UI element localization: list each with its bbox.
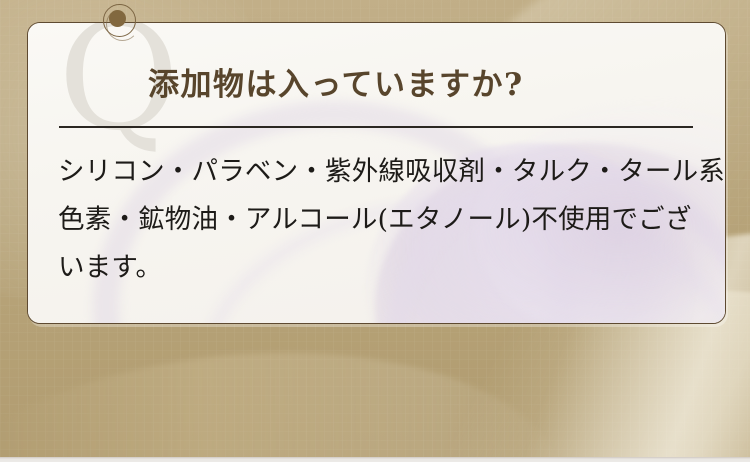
answer-line-2: 色素・鉱物油・アルコール(エタノール)不使用でござ	[58, 196, 706, 244]
faq-panel: Q 添加物は入っていますか? シリコン・パラベン・紫外線吸収剤・タルク・タール系…	[0, 0, 750, 462]
answer-line-1: シリコン・パラベン・紫外線吸収剤・タルク・タール系	[58, 148, 706, 196]
title-divider	[59, 126, 693, 128]
bottom-edge-band	[0, 457, 750, 462]
answer-text: シリコン・パラベン・紫外線吸収剤・タルク・タール系 色素・鉱物油・アルコール(エ…	[58, 148, 706, 292]
question-card: Q 添加物は入っていますか? シリコン・パラベン・紫外線吸収剤・タルク・タール系…	[27, 22, 726, 324]
question-title: 添加物は入っていますか?	[148, 66, 524, 105]
answer-line-3: います。	[58, 244, 706, 292]
circle-badge-icon	[103, 4, 136, 37]
